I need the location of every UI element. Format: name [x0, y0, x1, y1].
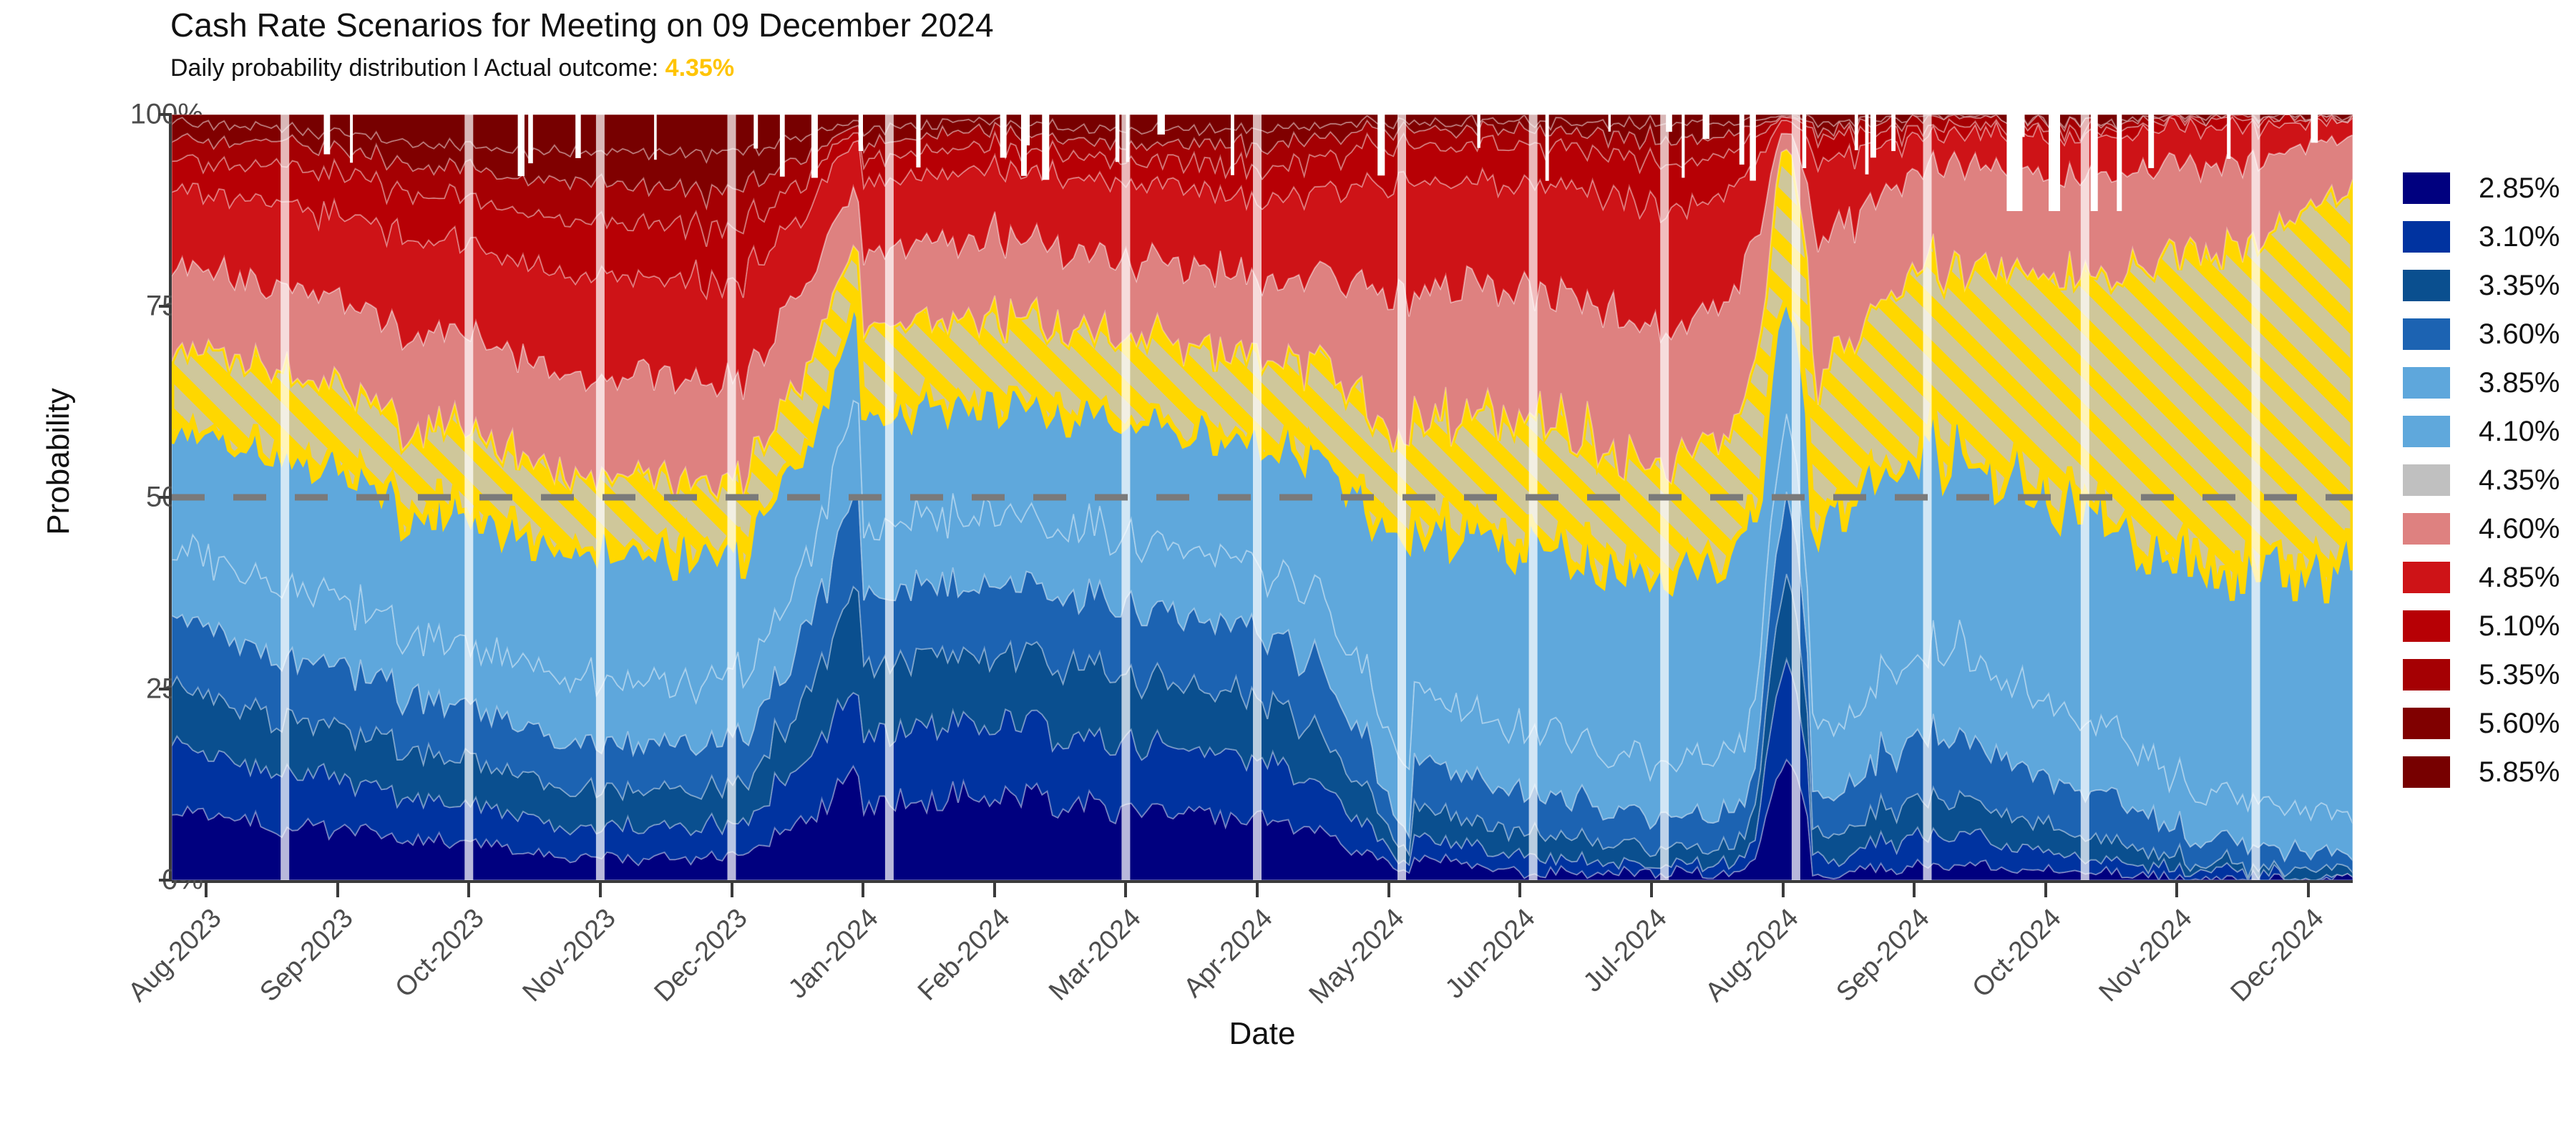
x-tick-mark — [731, 883, 733, 897]
legend-label: 2.85% — [2479, 172, 2560, 205]
data-gap — [518, 114, 525, 176]
data-gap — [1865, 114, 1869, 175]
data-gap — [2117, 114, 2122, 211]
legend-label: 5.35% — [2479, 659, 2560, 691]
data-gap — [1703, 114, 1709, 139]
legend: 2.85%3.10%3.35%3.60%3.85%4.10%4.35%4.60%… — [2403, 169, 2560, 801]
legend-label: 3.10% — [2479, 221, 2560, 253]
x-tick-mark — [862, 883, 864, 897]
x-tick-mark — [205, 883, 208, 897]
data-gap — [1609, 114, 1611, 132]
legend-swatch — [2403, 221, 2450, 253]
data-gap — [2227, 114, 2230, 159]
data-gap — [1546, 114, 1549, 181]
data-gap — [916, 114, 920, 167]
legend-item[interactable]: 3.35% — [2403, 266, 2560, 305]
legend-label: 5.85% — [2479, 756, 2560, 789]
x-tick-mark — [993, 883, 996, 897]
data-gap — [753, 114, 758, 149]
x-axis-line — [172, 880, 2353, 883]
legend-label: 5.60% — [2479, 708, 2560, 740]
x-tick-mark — [1124, 883, 1127, 897]
data-gap — [654, 114, 657, 160]
meeting-date-marker — [464, 114, 473, 880]
data-gap — [811, 114, 818, 178]
data-gap — [780, 114, 785, 177]
data-gap — [1682, 114, 1684, 177]
legend-item[interactable]: 5.10% — [2403, 607, 2560, 645]
x-tick-mark — [336, 883, 339, 897]
data-gap — [1377, 114, 1385, 175]
legend-item[interactable]: 2.85% — [2403, 169, 2560, 208]
chart-title: Cash Rate Scenarios for Meeting on 09 De… — [170, 6, 994, 44]
data-gap — [2091, 114, 2098, 211]
plot-area — [172, 114, 2353, 880]
x-tick-mark — [2044, 883, 2047, 897]
chart-subtitle: Daily probability distribution l Actual … — [170, 54, 734, 82]
legend-swatch — [2403, 708, 2450, 739]
legend-swatch — [2403, 562, 2450, 593]
legend-swatch — [2403, 610, 2450, 642]
data-gap — [1000, 114, 1007, 157]
data-gap — [1802, 114, 1807, 168]
data-gap — [1855, 114, 1858, 150]
x-tick-mark — [1256, 883, 1259, 897]
legend-item[interactable]: 5.35% — [2403, 655, 2560, 694]
x-tick-mark — [2175, 883, 2178, 897]
legend-label: 3.60% — [2479, 318, 2560, 351]
legend-item[interactable]: 3.10% — [2403, 218, 2560, 256]
data-gap — [2006, 114, 2022, 211]
subtitle-text: Daily probability distribution l Actual … — [170, 54, 665, 82]
data-gap — [1750, 114, 1756, 181]
data-gap — [1870, 114, 1876, 157]
legend-swatch — [2403, 172, 2450, 204]
legend-label: 4.85% — [2479, 562, 2560, 594]
legend-item[interactable]: 4.10% — [2403, 412, 2560, 451]
y-tick-mark — [159, 113, 172, 116]
legend-item[interactable]: 3.60% — [2403, 315, 2560, 353]
data-gap — [1231, 114, 1234, 175]
x-tick-mark — [467, 883, 470, 897]
legend-swatch — [2403, 756, 2450, 788]
legend-swatch — [2403, 367, 2450, 399]
data-gap — [1477, 114, 1480, 148]
y-tick-mark — [159, 305, 172, 308]
data-gap — [324, 114, 331, 155]
meeting-date-marker — [280, 114, 289, 880]
legend-label: 4.10% — [2479, 416, 2560, 448]
data-gap — [528, 114, 533, 163]
data-gap — [1042, 114, 1049, 180]
data-gap — [1026, 114, 1030, 145]
legend-label: 3.35% — [2479, 270, 2560, 302]
data-gap — [859, 114, 863, 151]
legend-item[interactable]: 4.35% — [2403, 461, 2560, 499]
data-gap — [2148, 114, 2154, 168]
meeting-date-marker — [885, 114, 894, 880]
legend-swatch — [2403, 659, 2450, 691]
legend-swatch — [2403, 416, 2450, 447]
stacked-area-plot — [172, 114, 2353, 880]
y-tick-mark — [159, 496, 172, 499]
data-gap — [350, 114, 353, 162]
legend-swatch — [2403, 318, 2450, 350]
x-tick-mark — [1650, 883, 1653, 897]
actual-outcome-value: 4.35% — [665, 54, 734, 82]
data-gap — [2311, 114, 2318, 142]
meeting-date-marker — [2252, 114, 2260, 880]
legend-swatch — [2403, 270, 2450, 301]
legend-label: 4.35% — [2479, 464, 2560, 497]
x-tick-mark — [1387, 883, 1390, 897]
y-tick-mark — [159, 688, 172, 691]
x-tick-mark — [1782, 883, 1785, 897]
legend-item[interactable]: 4.85% — [2403, 558, 2560, 597]
legend-swatch — [2403, 464, 2450, 496]
legend-item[interactable]: 4.60% — [2403, 509, 2560, 548]
y-axis-title: Probability — [41, 318, 77, 605]
x-tick-mark — [1518, 883, 1521, 897]
data-gap — [1158, 114, 1165, 135]
data-gap — [1891, 114, 1896, 151]
x-tick-mark — [599, 883, 602, 897]
data-gap — [2049, 114, 2060, 211]
legend-label: 5.10% — [2479, 610, 2560, 643]
legend-item[interactable]: 3.85% — [2403, 363, 2560, 402]
legend-label: 3.85% — [2479, 367, 2560, 399]
legend-label: 4.60% — [2479, 513, 2560, 545]
legend-item[interactable]: 5.85% — [2403, 753, 2560, 791]
legend-item[interactable]: 5.60% — [2403, 704, 2560, 743]
data-gap — [575, 114, 581, 158]
meeting-date-marker — [1253, 114, 1262, 880]
data-gap — [1116, 114, 1120, 162]
data-gap — [1021, 114, 1027, 176]
data-gap — [1740, 114, 1745, 165]
x-tick-mark — [1913, 883, 1916, 897]
y-tick-mark — [159, 879, 172, 882]
x-tick-mark — [2307, 883, 2310, 897]
legend-swatch — [2403, 513, 2450, 545]
